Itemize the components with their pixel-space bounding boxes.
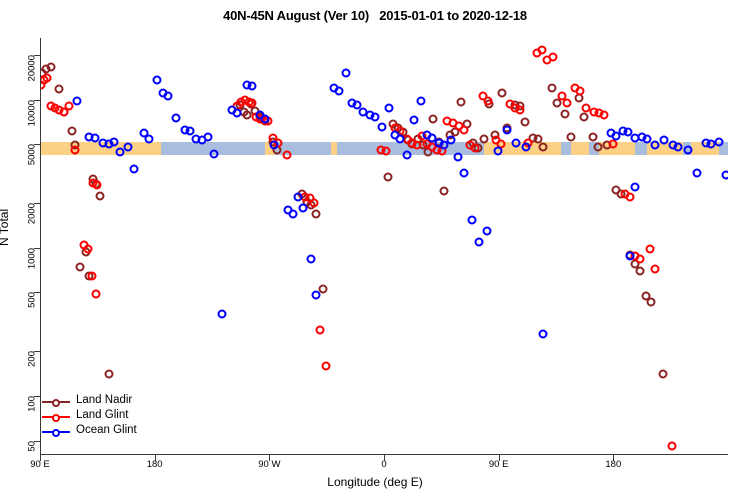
data-point-land-nadir	[521, 117, 530, 126]
data-point-land-glint	[563, 98, 572, 107]
data-point-ocean-glint	[467, 215, 476, 224]
data-point-land-nadir	[47, 63, 56, 72]
legend-label: Ocean Glint	[76, 423, 137, 438]
data-point-ocean-glint	[538, 330, 547, 339]
y-tick-label: 20000	[27, 55, 38, 81]
data-point-ocean-glint	[494, 146, 503, 155]
x-tick-label: 180	[147, 459, 163, 470]
data-point-ocean-glint	[651, 141, 660, 150]
data-point-ocean-glint	[307, 254, 316, 263]
data-point-land-nadir	[457, 98, 466, 107]
data-point-ocean-glint	[90, 134, 99, 143]
data-point-ocean-glint	[684, 145, 693, 154]
x-axis-label: Longitude (deg E)	[0, 475, 750, 489]
data-point-ocean-glint	[714, 137, 723, 146]
data-point-ocean-glint	[270, 141, 279, 150]
data-point-land-glint	[248, 98, 257, 107]
data-point-ocean-glint	[233, 109, 242, 118]
data-point-ocean-glint	[294, 193, 303, 202]
y-tick-label: 200	[27, 351, 38, 367]
data-point-land-nadir	[547, 83, 556, 92]
y-tick-label: 1000	[27, 248, 38, 269]
data-point-ocean-glint	[416, 96, 425, 105]
legend-circle-icon	[52, 429, 60, 437]
data-point-ocean-glint	[503, 126, 512, 135]
legend-circle-icon	[52, 414, 60, 422]
legend-item-land-glint[interactable]: Land Glint	[42, 408, 192, 423]
data-point-land-glint	[651, 264, 660, 273]
data-point-land-glint	[71, 145, 80, 154]
legend: Land NadirLand GlintOcean Glint	[42, 393, 192, 438]
data-point-land-glint	[282, 151, 291, 160]
data-point-ocean-glint	[512, 138, 521, 147]
data-point-land-glint	[484, 96, 493, 105]
data-point-ocean-glint	[130, 164, 139, 173]
x-tick-label: 180	[605, 459, 621, 470]
data-point-land-nadir	[439, 187, 448, 196]
data-point-land-glint	[609, 140, 618, 149]
data-point-ocean-glint	[625, 251, 634, 260]
y-tick-label: 100	[27, 396, 38, 412]
data-point-ocean-glint	[164, 92, 173, 101]
data-point-ocean-glint	[210, 149, 219, 158]
data-point-ocean-glint	[410, 115, 419, 124]
data-point-land-glint	[459, 126, 468, 135]
data-point-land-nadir	[658, 370, 667, 379]
data-point-ocean-glint	[172, 114, 181, 123]
data-point-land-glint	[43, 73, 52, 82]
y-tick-label: 5000	[27, 144, 38, 165]
data-point-ocean-glint	[248, 82, 257, 91]
data-point-land-nadir	[95, 191, 104, 200]
data-point-land-nadir	[635, 266, 644, 275]
data-point-ocean-glint	[217, 309, 226, 318]
data-point-land-nadir	[76, 263, 85, 272]
data-point-land-glint	[537, 46, 546, 55]
y-axis-label: N Total	[0, 209, 11, 246]
data-point-land-nadir	[67, 127, 76, 136]
data-point-land-glint	[91, 289, 100, 298]
data-point-ocean-glint	[447, 136, 456, 145]
data-point-land-glint	[600, 110, 609, 119]
data-point-ocean-glint	[152, 76, 161, 85]
y-tick-label: 50	[27, 441, 38, 452]
data-point-land-glint	[667, 442, 676, 451]
data-point-land-glint	[93, 181, 102, 190]
data-point-ocean-glint	[660, 136, 669, 145]
legend-marker-icon	[42, 401, 70, 403]
data-point-ocean-glint	[341, 69, 350, 78]
data-point-land-nadir	[574, 94, 583, 103]
data-point-land-glint	[322, 361, 331, 370]
data-point-ocean-glint	[109, 137, 118, 146]
data-point-land-glint	[646, 245, 655, 254]
data-point-land-nadir	[647, 298, 656, 307]
data-point-land-nadir	[579, 113, 588, 122]
data-point-land-nadir	[54, 84, 63, 93]
y-tick-label: 2000	[27, 203, 38, 224]
data-point-land-glint	[87, 272, 96, 281]
data-point-land-glint	[625, 193, 634, 202]
data-point-ocean-glint	[203, 132, 212, 141]
data-point-land-nadir	[567, 132, 576, 141]
data-point-ocean-glint	[261, 114, 270, 123]
data-point-ocean-glint	[370, 113, 379, 122]
data-point-land-glint	[309, 199, 318, 208]
data-point-land-glint	[471, 144, 480, 153]
legend-label: Land Glint	[76, 408, 128, 423]
data-point-ocean-glint	[482, 226, 491, 235]
data-point-land-nadir	[104, 370, 113, 379]
x-tick-label: 90 E	[489, 459, 509, 470]
data-point-land-glint	[316, 325, 325, 334]
surface-band-land	[571, 142, 589, 155]
data-point-ocean-glint	[289, 209, 298, 218]
legend-item-ocean-glint[interactable]: Ocean Glint	[42, 423, 192, 438]
data-point-land-nadir	[480, 135, 489, 144]
data-point-ocean-glint	[299, 204, 308, 213]
data-point-ocean-glint	[402, 151, 411, 160]
data-point-land-nadir	[588, 132, 597, 141]
data-point-ocean-glint	[72, 96, 81, 105]
data-point-ocean-glint	[123, 142, 132, 151]
data-point-ocean-glint	[459, 168, 468, 177]
data-point-ocean-glint	[453, 152, 462, 161]
data-point-ocean-glint	[145, 135, 154, 144]
data-point-land-glint	[575, 86, 584, 95]
data-point-ocean-glint	[722, 170, 728, 179]
data-point-land-nadir	[560, 109, 569, 118]
x-tick-label: 90 E	[30, 459, 50, 470]
data-point-land-nadir	[538, 142, 547, 151]
data-point-land-nadir	[593, 142, 602, 151]
data-point-land-nadir	[429, 114, 438, 123]
legend-marker-icon	[42, 431, 70, 433]
data-point-land-glint	[84, 245, 93, 254]
x-tick-label: 0	[381, 459, 386, 470]
surface-band-ocean	[561, 142, 571, 155]
data-point-ocean-glint	[384, 103, 393, 112]
legend-label: Land Nadir	[76, 393, 132, 408]
legend-item-land-nadir[interactable]: Land Nadir	[42, 393, 192, 408]
scatter-plot-figure: 40N-45N August (Ver 10) 2015-01-01 to 20…	[0, 0, 750, 500]
legend-circle-icon	[52, 399, 60, 407]
data-point-ocean-glint	[630, 183, 639, 192]
data-point-land-nadir	[312, 209, 321, 218]
data-point-land-glint	[412, 141, 421, 150]
data-point-ocean-glint	[674, 142, 683, 151]
data-point-land-nadir	[383, 173, 392, 182]
data-point-ocean-glint	[378, 123, 387, 132]
y-tick-label: 500	[27, 292, 38, 308]
data-point-ocean-glint	[475, 237, 484, 246]
legend-marker-icon	[42, 416, 70, 418]
data-point-ocean-glint	[312, 291, 321, 300]
data-point-ocean-glint	[522, 142, 531, 151]
data-point-land-glint	[382, 146, 391, 155]
y-tick-label: 10000	[27, 100, 38, 126]
data-point-land-glint	[635, 254, 644, 263]
data-point-ocean-glint	[693, 168, 702, 177]
data-point-land-nadir	[498, 89, 507, 98]
x-tick-label: 90 W	[258, 459, 280, 470]
data-point-land-glint	[516, 105, 525, 114]
data-point-ocean-glint	[335, 86, 344, 95]
data-point-ocean-glint	[396, 135, 405, 144]
data-point-land-glint	[549, 52, 558, 61]
page-title: 40N-45N August (Ver 10) 2015-01-01 to 20…	[0, 8, 750, 23]
